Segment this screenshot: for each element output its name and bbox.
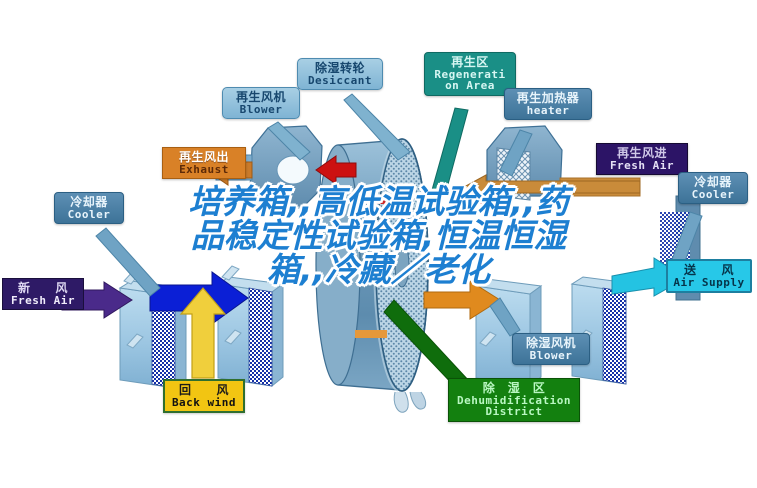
label-regeneration-area[interactable]: 再生区 Regenerati on Area [424, 52, 516, 96]
label-dehumidification-district-en-2: District [453, 406, 575, 418]
diagram-canvas: 除湿转轮 Desiccant 再生风机 Blower 再生区 Regenerat… [0, 0, 757, 488]
label-regeneration-air-out-cn: 再生风出 [167, 151, 241, 164]
label-dehumidification-district[interactable]: 除 湿 区 Dehumidification District [448, 378, 580, 422]
seal-upper [352, 195, 386, 204]
label-regeneration-blower-cn: 再生风机 [227, 91, 295, 104]
label-dehumidification-blower[interactable]: 除湿风机 Blower [512, 333, 590, 365]
label-back-wind[interactable]: 回 风 Back wind [163, 379, 245, 413]
label-desiccant-rotor-en: Desiccant [302, 75, 378, 87]
label-regeneration-air-in-en: Fresh Air [601, 160, 683, 172]
label-regeneration-air-out[interactable]: 再生风出 Exhaust [162, 147, 246, 179]
label-regeneration-blower-en: Blower [227, 104, 295, 116]
label-cooler-left[interactable]: 冷却器 Cooler [54, 192, 124, 224]
label-air-supply-cn: 送 风 [672, 264, 746, 277]
label-regeneration-area-en-2: on Area [429, 80, 511, 92]
label-regeneration-blower[interactable]: 再生风机 Blower [222, 87, 300, 119]
label-dehumidification-blower-cn: 除湿风机 [517, 337, 585, 350]
label-fresh-air-in-en: Fresh Air [7, 295, 79, 307]
label-regeneration-air-in-cn: 再生风进 [601, 147, 683, 160]
label-back-wind-cn: 回 风 [169, 384, 239, 397]
rotor-drive-belt [394, 392, 425, 412]
right-outlet-duct [572, 277, 637, 384]
label-cooler-right-en: Cooler [683, 189, 743, 201]
label-regeneration-air-in[interactable]: 再生风进 Fresh Air [596, 143, 688, 175]
label-cooler-right[interactable]: 冷却器 Cooler [678, 172, 748, 204]
label-cooler-right-cn: 冷却器 [683, 176, 743, 189]
label-regeneration-heater[interactable]: 再生加热器 heater [504, 88, 592, 120]
label-regeneration-area-cn: 再生区 [429, 56, 511, 69]
label-dehumidification-blower-en: Blower [517, 350, 585, 362]
label-desiccant-rotor[interactable]: 除湿转轮 Desiccant [297, 58, 383, 90]
label-back-wind-en: Back wind [169, 397, 239, 409]
label-air-supply[interactable]: 送 风 Air Supply [666, 259, 752, 293]
label-regeneration-air-out-en: Exhaust [167, 164, 241, 176]
label-desiccant-rotor-cn: 除湿转轮 [302, 62, 378, 75]
label-cooler-left-en: Cooler [59, 209, 119, 221]
label-air-supply-en: Air Supply [672, 277, 746, 289]
label-dehumidification-district-cn: 除 湿 区 [453, 382, 575, 395]
label-fresh-air-in[interactable]: 新 风 Fresh Air [2, 278, 84, 310]
label-regeneration-heater-cn: 再生加热器 [509, 92, 587, 105]
label-regeneration-heater-en: heater [509, 105, 587, 117]
label-fresh-air-in-cn: 新 风 [7, 282, 79, 295]
label-cooler-left-cn: 冷却器 [59, 196, 119, 209]
seal-lower [355, 330, 387, 338]
